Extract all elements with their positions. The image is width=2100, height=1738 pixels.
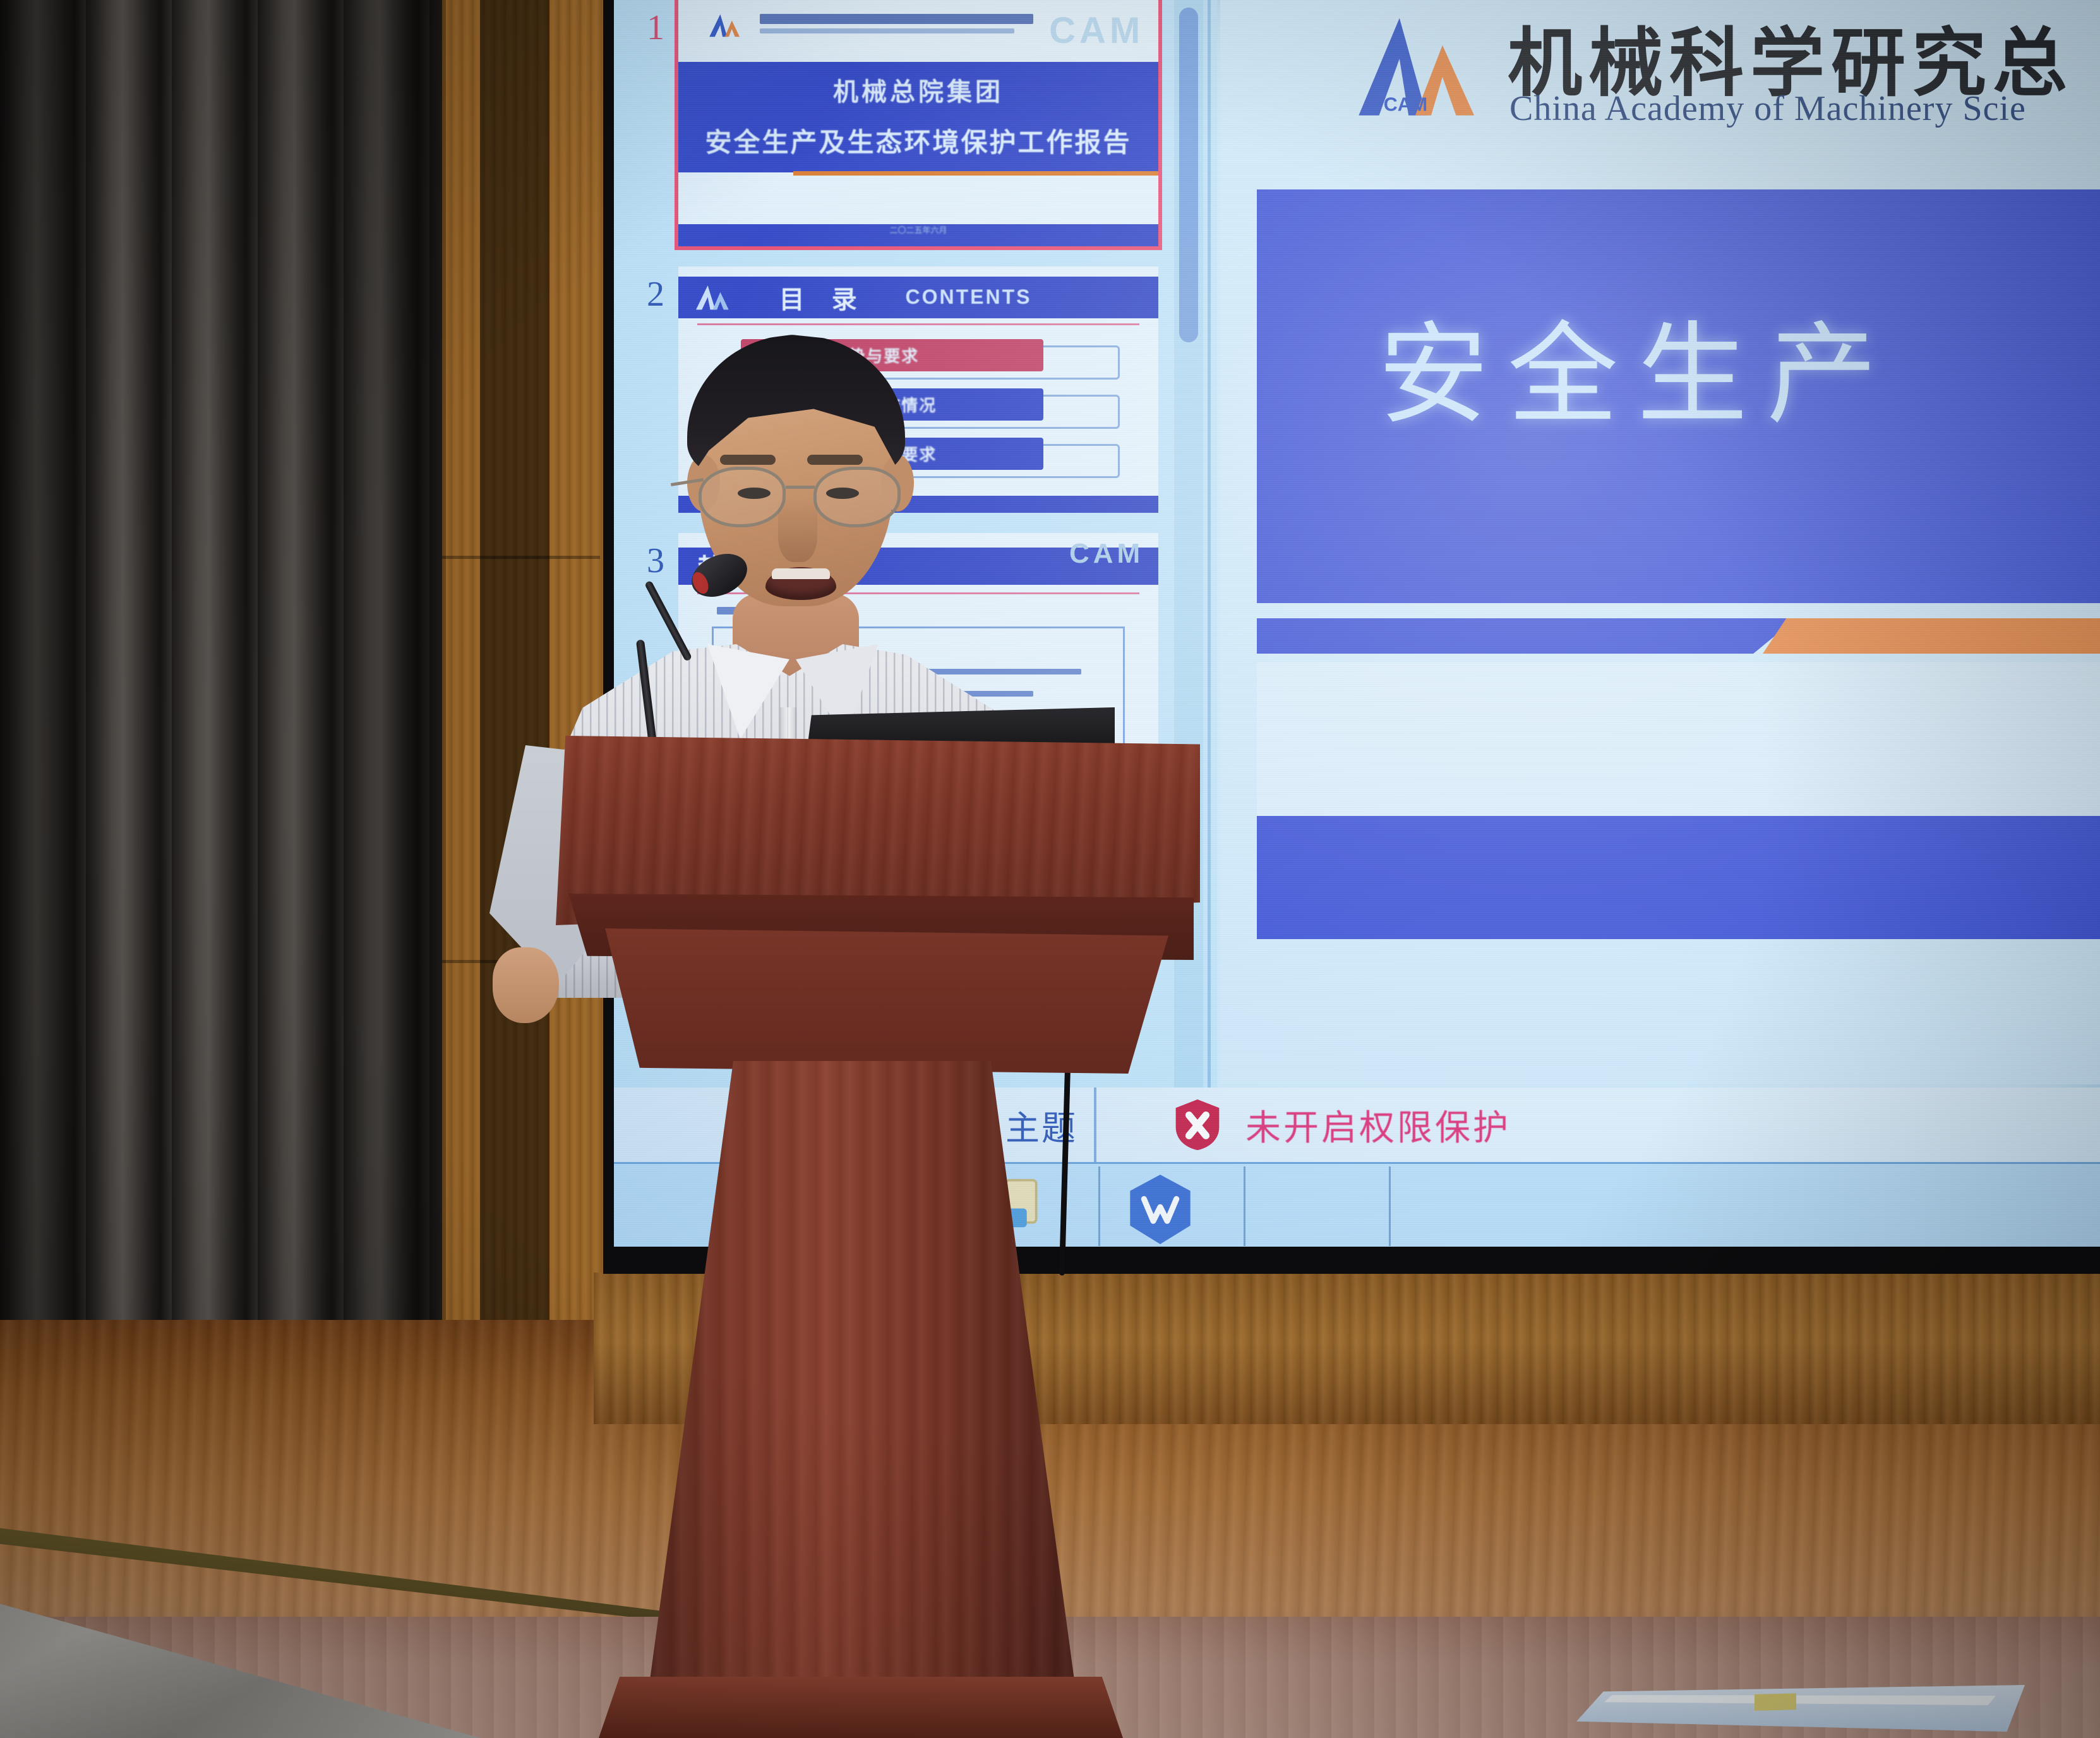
thumb-header: CAM [678,0,1158,54]
cam-logo-icon [705,12,748,39]
stage-curtain [0,0,442,1471]
thumb-org-sub-bar [760,28,1014,34]
lens-right [813,467,901,527]
thumbnail-row-1[interactable]: 1 CAM 机械总院集团 [633,0,1176,246]
status-divider [1094,1088,1096,1162]
thumb-footer: 二〇二五年六月 [678,224,1158,246]
thumb-footer-text: 二〇二五年六月 [678,224,1158,237]
thumb-orange-accent [793,171,1158,176]
eyebrow-right [807,455,863,465]
lens-left [699,467,786,527]
nose [778,499,817,562]
thumb-org-name-bar [760,14,1033,23]
permission-warning-text: 未开启权限保护 [1245,1100,1511,1151]
thumbnail-scrollbar-thumb[interactable] [1179,8,1198,342]
thumb-title-band: 机械总院集团 安全生产及生态环境保护工作报告 [678,62,1158,173]
thumbnail-number: 1 [633,0,678,45]
cam-logo-icon: CAM [1350,0,1485,136]
slide-bottom-band [1257,816,2100,939]
eyebrow-left [720,455,776,465]
wps-office-icon[interactable] [1125,1172,1195,1247]
left-hand [493,947,559,1023]
slide-title: 安全生产 [1378,285,1896,445]
thumb-title-line2: 安全生产及生态环境保护工作报告 [678,111,1158,162]
podium-midsection [594,928,1168,1074]
svg-text:CAM: CAM [1384,94,1427,116]
thumbnail-slide-1[interactable]: CAM 机械总院集团 安全生产及生态环境保护工作报告 二〇二五年六月 [678,0,1158,246]
podium-base [599,1677,1123,1738]
thumb-title-line1: 机械总院集团 [678,62,1158,111]
glasses-bridge [786,486,815,489]
thumb-cam-watermark: CAM [1049,9,1144,52]
wall-seam [442,0,446,1351]
floor-sign-marker [1755,1693,1796,1711]
accent-orange [1763,618,2100,654]
thumb-cam-watermark: CAM [1069,538,1144,570]
slide-org-name-en: China Academy of Machinery Scie [1509,88,2026,129]
shield-x-icon[interactable] [1173,1098,1222,1151]
pane-divider[interactable] [1208,0,1211,1157]
teeth [772,568,830,579]
active-slide[interactable]: CAM 机械科学研究总 China Academy of Machinery S… [1220,0,2100,1084]
taskbar-cell[interactable] [1245,1166,1391,1246]
slide-accent-stripe [1257,611,2100,662]
scene-root: 1 CAM 机械总院集团 [0,0,2100,1738]
accent-blue [1257,618,1796,654]
